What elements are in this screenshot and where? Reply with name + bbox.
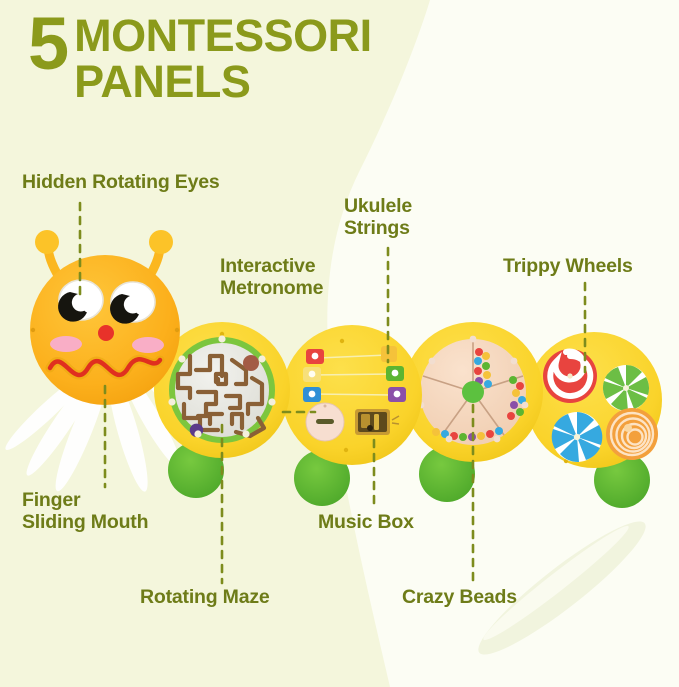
label-music-box: Music Box	[318, 512, 414, 534]
label-trippy-wheels: Trippy Wheels	[503, 256, 633, 278]
infographic-canvas: 5 MONTESSORI PANELS	[0, 0, 679, 687]
label-interactive-metronome: Interactive Metronome	[220, 256, 323, 300]
label-ukulele-strings: Ukulele Strings	[344, 196, 412, 240]
leader-lines-layer	[0, 0, 679, 687]
label-crazy-beads: Crazy Beads	[402, 587, 517, 609]
label-finger-sliding-mouth: Finger Sliding Mouth	[22, 490, 148, 534]
label-rotating-maze: Rotating Maze	[140, 587, 270, 609]
label-hidden-rotating-eyes: Hidden Rotating Eyes	[22, 172, 220, 194]
